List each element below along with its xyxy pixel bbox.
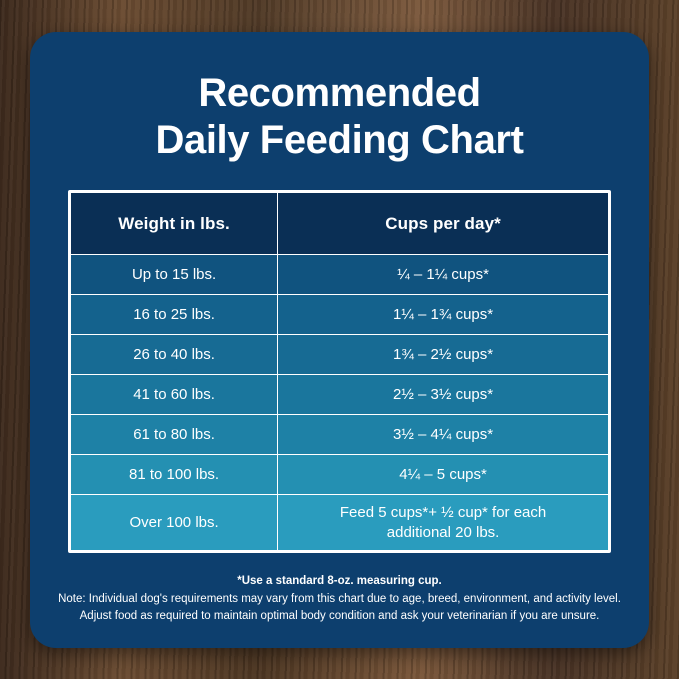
footnotes-block: *Use a standard 8-oz. measuring cup. Not… [30, 573, 649, 626]
cell-cups-line-1: Feed 5 cups*+ ½ cup* for each [278, 503, 608, 523]
feeding-table-wrapper: Weight in lbs. Cups per day* Up to 15 lb… [68, 190, 611, 553]
cell-cups: 2½ – 3½ cups* [278, 375, 609, 415]
cell-cups-line-2: additional 20 lbs. [278, 523, 608, 543]
cell-cups: 1¾ – 2½ cups* [278, 335, 609, 375]
cell-cups: 1¼ – 1¾ cups* [278, 295, 609, 335]
table-row: 16 to 25 lbs. 1¼ – 1¾ cups* [71, 295, 609, 335]
title-block: Recommended Daily Feeding Chart [30, 32, 649, 164]
table-header-row: Weight in lbs. Cups per day* [71, 193, 609, 255]
cell-weight: Over 100 lbs. [71, 495, 278, 551]
table-row: 41 to 60 lbs. 2½ – 3½ cups* [71, 375, 609, 415]
cell-cups: 4¼ – 5 cups* [278, 455, 609, 495]
column-header-weight: Weight in lbs. [71, 193, 278, 255]
table-row: 26 to 40 lbs. 1¾ – 2½ cups* [71, 335, 609, 375]
cell-cups: ¼ – 1¼ cups* [278, 255, 609, 295]
feeding-chart-card: Recommended Daily Feeding Chart Weight i… [30, 32, 649, 648]
page-title-line-2: Daily Feeding Chart [30, 117, 649, 164]
page-title-line-1: Recommended [30, 70, 649, 117]
footnote-adjust: Adjust food as required to maintain opti… [54, 608, 625, 626]
table-row: Over 100 lbs. Feed 5 cups*+ ½ cup* for e… [71, 495, 609, 551]
cell-weight: 61 to 80 lbs. [71, 415, 278, 455]
cell-cups: Feed 5 cups*+ ½ cup* for each additional… [278, 495, 609, 551]
cell-weight: 16 to 25 lbs. [71, 295, 278, 335]
table-header: Weight in lbs. Cups per day* [71, 193, 609, 255]
cell-weight: 41 to 60 lbs. [71, 375, 278, 415]
cell-weight: 26 to 40 lbs. [71, 335, 278, 375]
cell-weight: 81 to 100 lbs. [71, 455, 278, 495]
table-body: Up to 15 lbs. ¼ – 1¼ cups* 16 to 25 lbs.… [71, 255, 609, 551]
cell-weight: Up to 15 lbs. [71, 255, 278, 295]
table-row: 81 to 100 lbs. 4¼ – 5 cups* [71, 455, 609, 495]
column-header-cups: Cups per day* [278, 193, 609, 255]
footnote-measuring-cup: *Use a standard 8-oz. measuring cup. [54, 573, 625, 590]
footnote-note: Note: Individual dog's requirements may … [54, 591, 625, 609]
cell-cups: 3½ – 4¼ cups* [278, 415, 609, 455]
table-row: 61 to 80 lbs. 3½ – 4¼ cups* [71, 415, 609, 455]
table-row: Up to 15 lbs. ¼ – 1¼ cups* [71, 255, 609, 295]
feeding-table: Weight in lbs. Cups per day* Up to 15 lb… [70, 192, 609, 551]
